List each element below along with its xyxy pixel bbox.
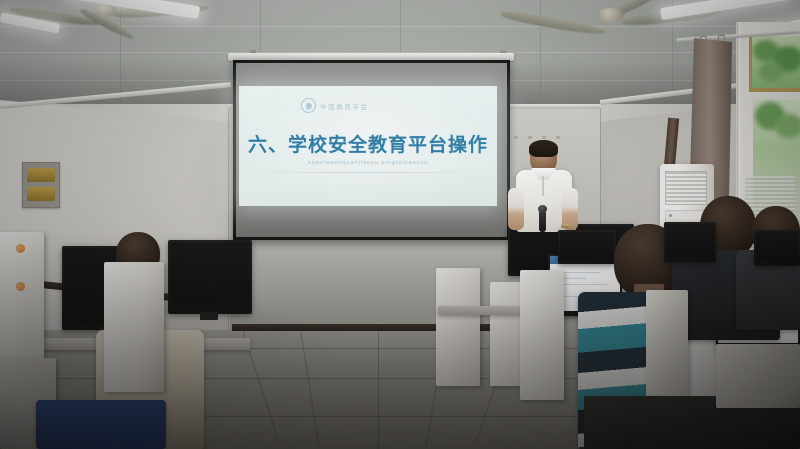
monitor (558, 230, 616, 264)
desk-privacy-divider (646, 290, 688, 410)
wall-plaque (22, 162, 60, 208)
presentation-slide: 中国教育学会 六、学校安全教育平台操作 xuexiaoanquanjiaoyu … (239, 86, 497, 206)
desk-privacy-divider (104, 262, 164, 392)
monitor (664, 222, 716, 262)
desk-privacy-divider (436, 268, 480, 386)
desk-sticker (16, 282, 25, 291)
monitor (168, 240, 252, 314)
slide-divider (253, 172, 483, 173)
microphone-icon (539, 210, 546, 232)
desk-sticker (16, 244, 25, 253)
monitor (754, 230, 800, 266)
air-conditioner-icon (665, 171, 707, 205)
presenter-hair (529, 140, 558, 157)
desk-privacy-divider (716, 344, 800, 408)
microphone-head-icon (538, 205, 547, 213)
slide-pinyin: xuexiaoanquanjiaoyu pingtaicaozuo (239, 160, 497, 166)
classroom-photo-scene: 中国教育学会 六、学校安全教育平台操作 xuexiaoanquanjiaoyu … (0, 0, 800, 449)
slide-logo-text: 中国教育学会 (320, 101, 369, 111)
classroom-chair (36, 400, 166, 449)
education-emblem-icon (301, 98, 316, 113)
window-pane-upper (749, 36, 800, 88)
desk-privacy-divider (520, 270, 564, 400)
projection-screen: 中国教育学会 六、学校安全教育平台操作 xuexiaoanquanjiaoyu … (233, 60, 510, 240)
slide-title: 六、学校安全教育平台操作 (239, 130, 497, 157)
wristwatch (561, 224, 569, 228)
slide-logo: 中国教育学会 (301, 98, 369, 113)
